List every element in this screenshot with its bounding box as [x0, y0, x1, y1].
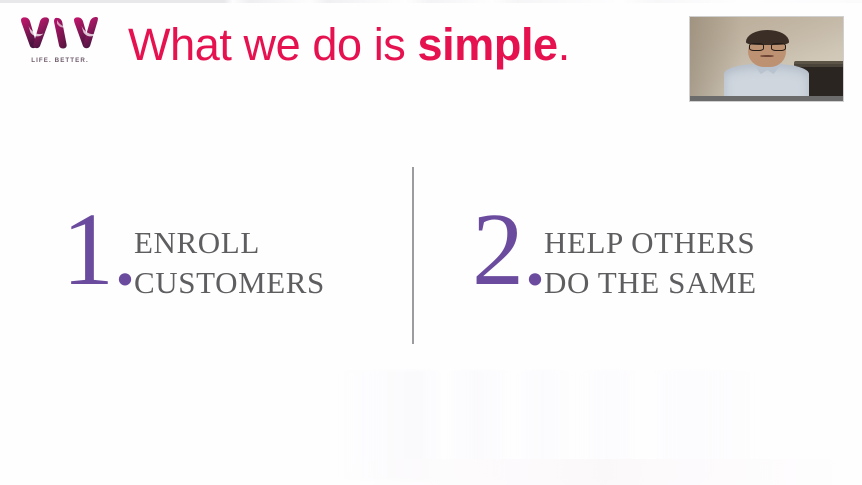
- slide-header: LIFE. BETTER. What we do is simple.: [0, 0, 862, 110]
- slide-title: What we do is simple.: [128, 15, 570, 75]
- step-text-2: HELP OTHERS DO THE SAME: [544, 223, 757, 303]
- bottom-edge-artifact: [0, 459, 862, 485]
- logo-tagline: LIFE. BETTER.: [18, 57, 102, 64]
- webcam-bottom-bar: [690, 96, 843, 101]
- vertical-divider: [412, 167, 414, 344]
- step-item-1: 1. ENROLL CUSTOMERS: [62, 150, 325, 303]
- step-item-2: 2. HELP OTHERS DO THE SAME: [472, 150, 757, 303]
- step-text-2-line-2: DO THE SAME: [544, 263, 757, 303]
- slide-title-lead: What we do is: [128, 19, 418, 70]
- step-number-2: 2.: [472, 198, 546, 302]
- steps-container: 1. ENROLL CUSTOMERS 2. HELP OTHERS DO TH…: [0, 150, 862, 360]
- slide-title-emphasis: simple: [418, 19, 558, 70]
- step-number-1: 1.: [62, 198, 136, 302]
- webcam-presenter-glasses: [748, 43, 786, 51]
- step-text-1-line-2: CUSTOMERS: [134, 263, 325, 303]
- slide-title-trailing: .: [558, 19, 570, 70]
- step-text-2-line-1: HELP OTHERS: [544, 223, 757, 263]
- presenter-webcam-video[interactable]: [690, 17, 843, 101]
- step-text-1-line-1: ENROLL: [134, 223, 325, 263]
- presentation-slide: LIFE. BETTER. What we do is simple. 1. E…: [0, 0, 862, 485]
- viv-logo: LIFE. BETTER.: [16, 16, 102, 74]
- step-text-1: ENROLL CUSTOMERS: [134, 223, 325, 303]
- viv-wordmark-icon: [16, 16, 102, 56]
